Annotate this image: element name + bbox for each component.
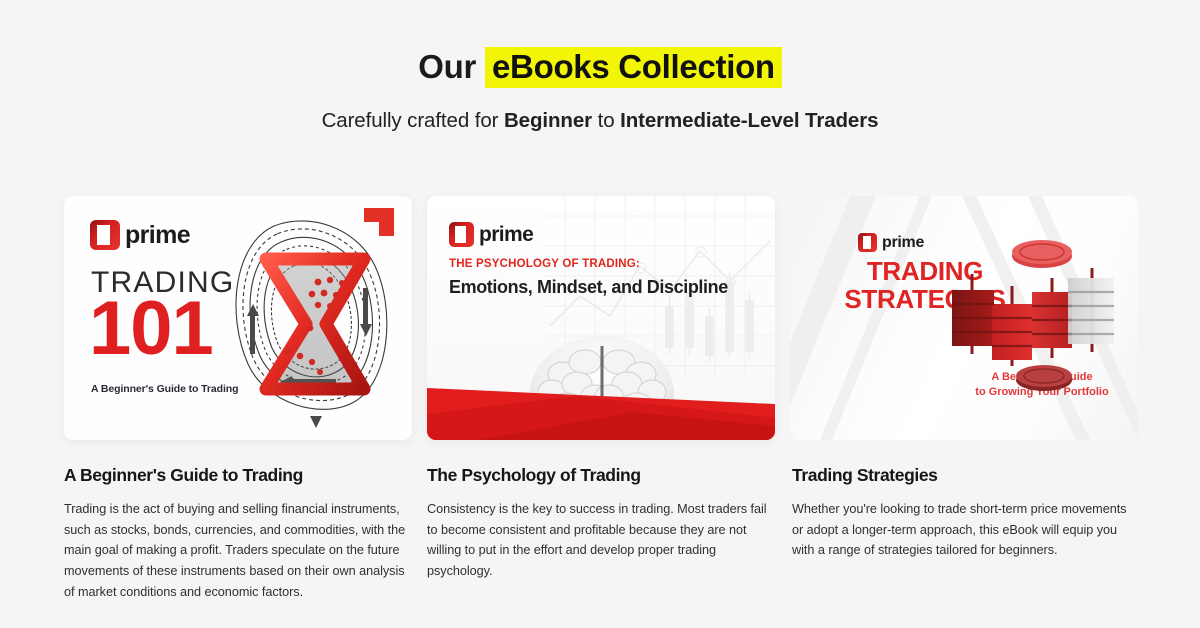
subtitle-pre: Carefully crafted for	[322, 109, 504, 132]
ebooks-collection-page: Our eBooks Collection Carefully crafted …	[0, 0, 1200, 628]
ebook-card[interactable]: prime THE PSYCHOLOGY OF TRADING: Emotion…	[427, 196, 775, 603]
dprime-logo-word: prime	[479, 223, 533, 247]
ebook-card-description: Consistency is the key to success in tra…	[427, 499, 775, 582]
ebook-card[interactable]: prime TRADING STRATEGIES A Beginner's Gu…	[790, 196, 1138, 603]
dprime-logo-mark-icon	[449, 222, 474, 247]
dprime-logo-mark-icon	[858, 233, 877, 252]
red-band-shape	[427, 374, 775, 440]
dprime-logo-mark-icon	[90, 220, 120, 250]
candlestick-stacks-illustration	[950, 234, 1130, 404]
page-title: Our eBooks Collection	[0, 47, 1200, 88]
cover-kicker: THE PSYCHOLOGY OF TRADING:	[449, 258, 640, 270]
hourglass-maze-illustration	[214, 204, 409, 434]
cover-headline: Emotions, Mindset, and Discipline	[449, 277, 728, 298]
ebook-card-list: prime TRADING 101 A Beginner's Guide to …	[0, 196, 1200, 603]
dprime-logo-word: prime	[882, 234, 924, 252]
dprime-logo: prime	[858, 233, 924, 252]
page-title-highlight: eBooks Collection	[485, 47, 782, 88]
dprime-logo-word: prime	[125, 221, 190, 250]
page-header: Our eBooks Collection Carefully crafted …	[0, 0, 1200, 133]
subtitle-mid: to	[592, 109, 620, 132]
ebook-card-description: Trading is the act of buying and selling…	[64, 499, 408, 603]
ebook-card-title: A Beginner's Guide to Trading	[64, 465, 412, 486]
ebook-cover-image-strategies[interactable]: prime TRADING STRATEGIES A Beginner's Gu…	[790, 196, 1138, 440]
page-title-plain: Our	[418, 49, 476, 85]
ebook-card-title: The Psychology of Trading	[427, 465, 775, 486]
subtitle-bold-intermediate: Intermediate-Level Traders	[620, 109, 878, 132]
ebook-cover-image-trading-101[interactable]: prime TRADING 101 A Beginner's Guide to …	[64, 196, 412, 440]
dprime-logo: prime	[90, 220, 190, 250]
cover-line-101: 101	[89, 291, 213, 367]
subtitle-bold-beginner: Beginner	[504, 109, 592, 132]
ebook-card-title: Trading Strategies	[792, 465, 1138, 486]
ebook-card-description: Whether you're looking to trade short-te…	[792, 499, 1140, 561]
ebook-card[interactable]: prime TRADING 101 A Beginner's Guide to …	[64, 196, 412, 603]
page-subtitle: Carefully crafted for Beginner to Interm…	[0, 109, 1200, 133]
ebook-cover-image-psychology[interactable]: prime THE PSYCHOLOGY OF TRADING: Emotion…	[427, 196, 775, 440]
dprime-logo: prime	[449, 222, 533, 247]
